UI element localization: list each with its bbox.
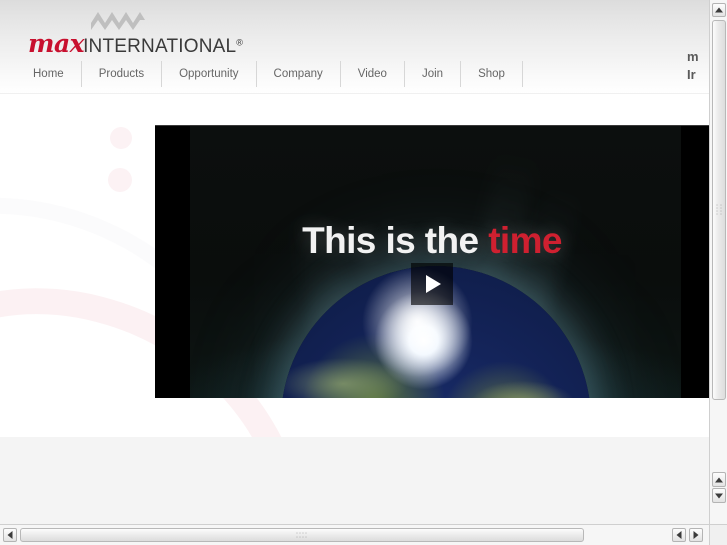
registered-trademark-icon: ® (236, 38, 243, 48)
nav-item-products[interactable]: Products (82, 61, 162, 87)
video-headline-red: time (488, 220, 562, 261)
utility-link-line-2[interactable]: Ir (685, 66, 709, 84)
arrow-up-icon (715, 8, 723, 13)
nav-item-company[interactable]: Company (257, 61, 341, 87)
video-poster-scene (190, 126, 681, 398)
arrow-up-icon (715, 477, 723, 482)
video-headline: This is the time (155, 220, 709, 262)
arrow-left-icon (677, 531, 682, 539)
nav-item-opportunity[interactable]: Opportunity (162, 61, 256, 87)
main-navigation: Home Products Opportunity Company Video … (22, 60, 523, 88)
site-header: maxINTERNATIONAL® Home Products Opportun… (0, 0, 709, 94)
video-pillarbox-left (155, 126, 190, 398)
nav-item-join[interactable]: Join (405, 61, 461, 87)
scroll-thumb-grip-icon (296, 532, 309, 539)
nav-item-home[interactable]: Home (22, 61, 82, 87)
max-chevron-mark-icon (90, 8, 146, 32)
arrow-left-icon (8, 531, 13, 539)
site-logo[interactable]: maxINTERNATIONAL® (28, 8, 208, 56)
scroll-right-button[interactable] (689, 528, 703, 542)
logo-wordmark: maxINTERNATIONAL® (28, 31, 243, 56)
video-play-button[interactable] (411, 263, 453, 305)
scroll-up-button-secondary[interactable] (712, 472, 726, 487)
nav-item-shop[interactable]: Shop (461, 61, 523, 87)
scrollbar-corner (709, 524, 727, 545)
arrow-down-icon (715, 493, 723, 498)
utility-links-truncated[interactable]: m Ir (685, 48, 709, 84)
scroll-down-button[interactable] (712, 488, 726, 503)
decorative-dot-upper (110, 127, 132, 149)
play-triangle-icon (426, 275, 441, 293)
logo-text-international: INTERNATIONAL (83, 36, 236, 57)
logo-text-max: max (28, 29, 84, 58)
video-player[interactable]: This is the time (155, 125, 709, 398)
scroll-left-button[interactable] (3, 528, 17, 542)
video-headline-white: This is the (302, 220, 478, 261)
horizontal-scroll-thumb[interactable] (20, 528, 584, 542)
horizontal-scrollbar[interactable] (0, 524, 709, 545)
browser-viewport: maxINTERNATIONAL® Home Products Opportun… (0, 0, 709, 524)
video-pillarbox-right (681, 126, 709, 398)
web-page: maxINTERNATIONAL® Home Products Opportun… (0, 0, 709, 524)
vertical-scroll-thumb[interactable] (712, 20, 726, 400)
scroll-left-button-secondary[interactable] (672, 528, 686, 542)
scroll-up-button[interactable] (712, 3, 726, 17)
nav-item-video[interactable]: Video (341, 61, 405, 87)
arrow-right-icon (694, 531, 699, 539)
page-footer-band (0, 437, 709, 524)
scroll-thumb-grip-icon (716, 204, 723, 217)
decorative-dot-lower (108, 168, 132, 192)
vertical-scrollbar[interactable] (709, 0, 727, 524)
utility-link-line-1[interactable]: m (685, 48, 709, 66)
